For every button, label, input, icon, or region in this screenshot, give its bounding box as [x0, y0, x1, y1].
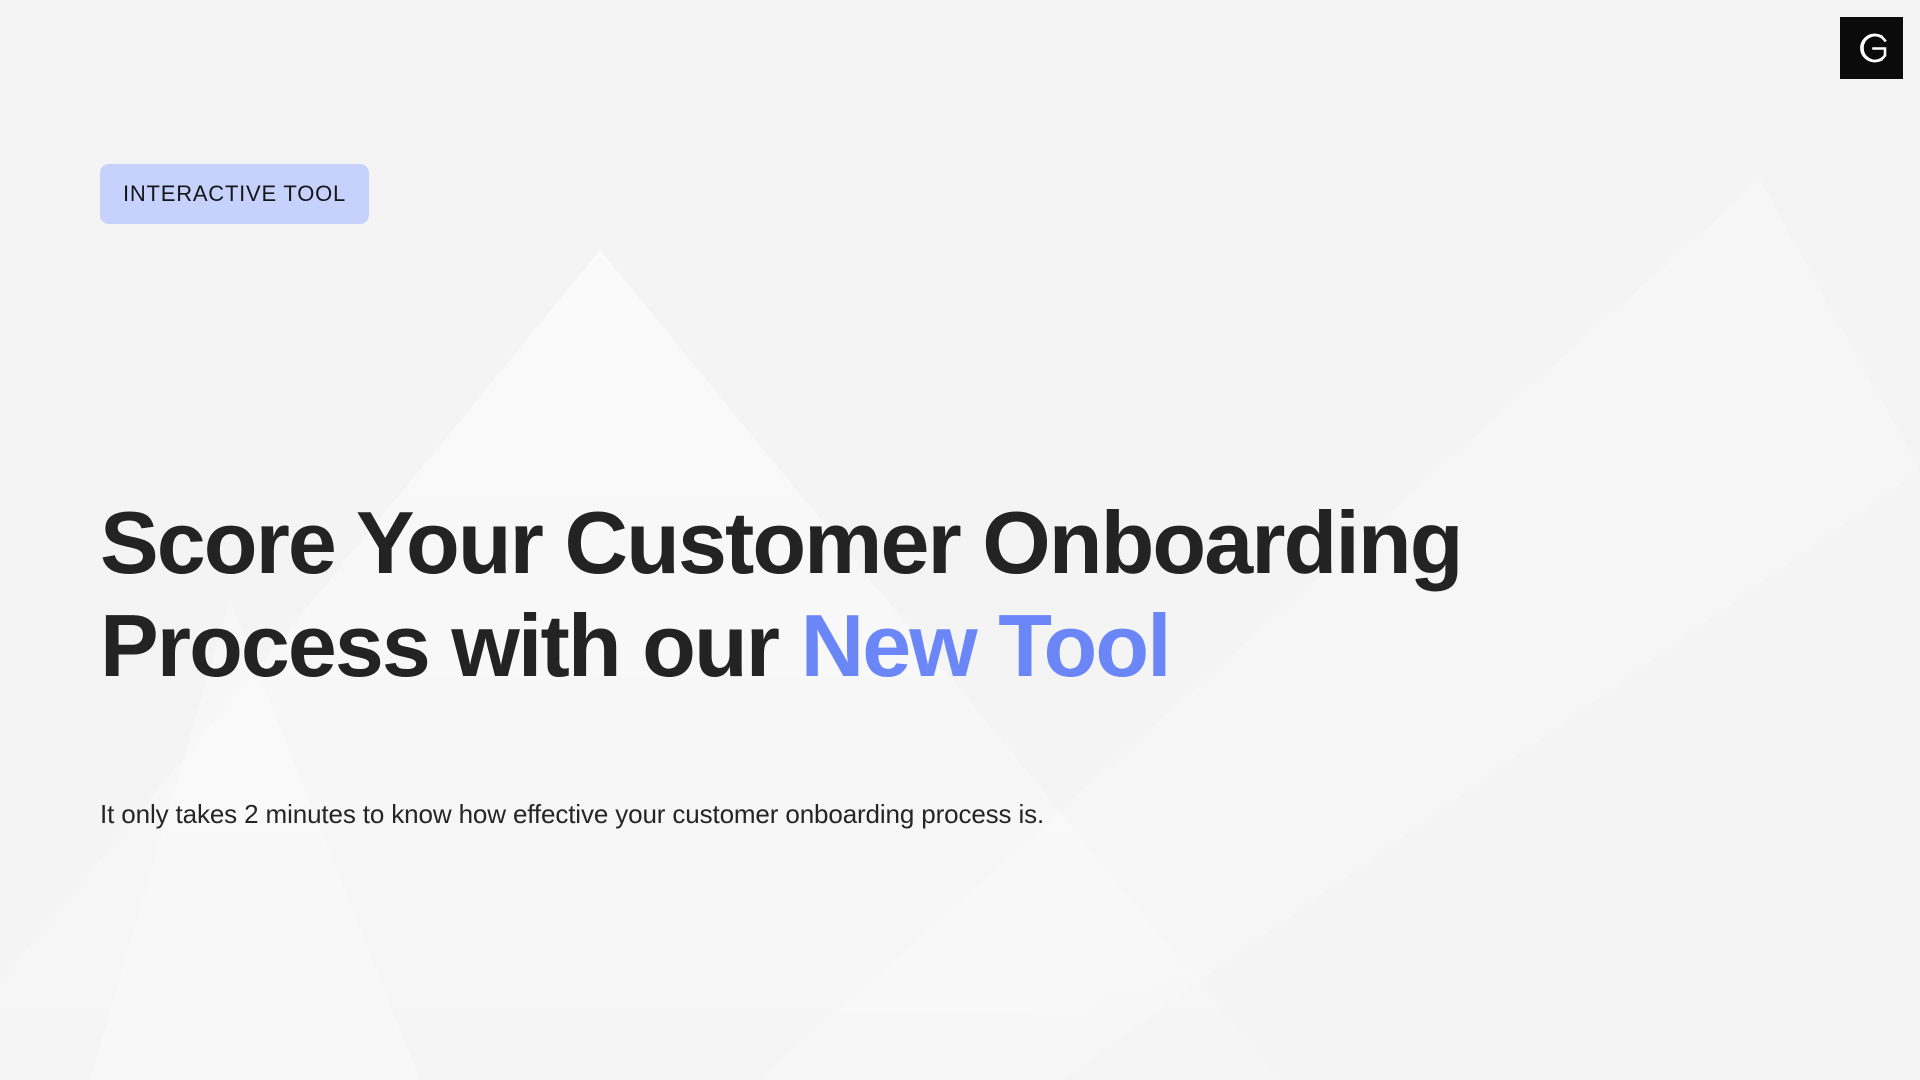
- hero-subheading: It only takes 2 minutes to know how effe…: [100, 796, 1044, 834]
- interactive-tool-badge: INTERACTIVE TOOL: [100, 164, 369, 224]
- heading-line-2-lead: Process with our: [100, 596, 801, 695]
- heading-accent-new-tool: New Tool: [801, 596, 1170, 695]
- page-title: Score Your Customer Onboarding Process w…: [100, 492, 1820, 698]
- heading-line-1: Score Your Customer Onboarding: [100, 492, 1820, 595]
- hero-section: INTERACTIVE TOOL Score Your Customer Onb…: [0, 0, 1920, 1080]
- heading-line-2: Process with our New Tool: [100, 595, 1820, 698]
- brand-logo[interactable]: [1840, 17, 1903, 79]
- logo-g-icon: [1854, 30, 1890, 66]
